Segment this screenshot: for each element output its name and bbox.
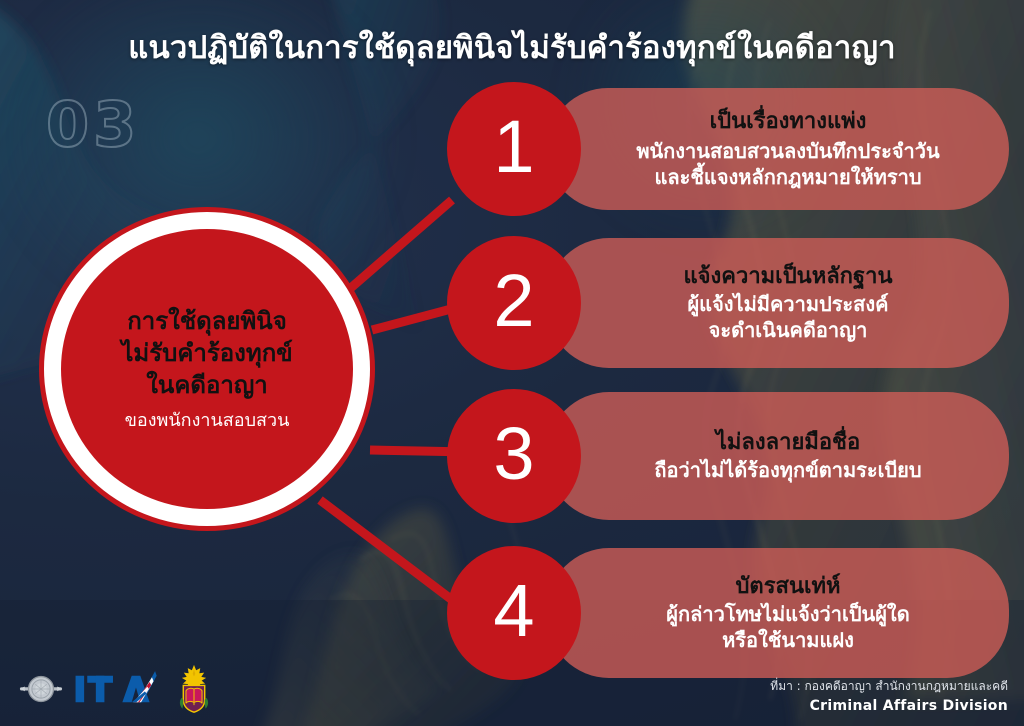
item-number-1: 1 — [493, 110, 534, 184]
item-number-circle-3: 3 — [447, 389, 581, 523]
item-line2-1: และชี้แจงหลักกฎหมายให้ทราบ — [654, 164, 921, 190]
hub-line-2: ไม่รับคำร้องทุกข์ — [121, 338, 292, 370]
item-row-1: เป็นเรื่องทางแพ่ง พนักงานสอบสวนลงบันทึกป… — [447, 88, 1009, 210]
credit-source-en: Criminal Affairs Division — [770, 696, 1008, 716]
item-line1-4: ผู้กล่าวโทษไม่แจ้งว่าเป็นผู้ใด — [666, 601, 909, 627]
item-number-2: 2 — [493, 264, 534, 338]
police-medallion-icon — [18, 666, 64, 712]
item-heading-3: ไม่ลงลายมือชื่อ — [716, 429, 860, 456]
hub-subtitle: ของพนักงานสอบสวน — [125, 409, 290, 432]
royal-police-emblem-icon — [176, 664, 212, 714]
item-pill-2: แจ้งความเป็นหลักฐาน ผู้แจ้งไม่มีความประส… — [547, 238, 1009, 368]
item-number-circle-2: 2 — [447, 236, 581, 370]
item-pill-4: บัตรสนเท่ห์ ผู้กล่าวโทษไม่แจ้งว่าเป็นผู้… — [547, 548, 1009, 678]
credit-source-th: ที่มา : กองคดีอาญา สำนักงานกฎหมายและคดี — [770, 678, 1008, 695]
item-pill-3: ไม่ลงลายมือชื่อ ถือว่าไม่ได้ร้องทุกข์ตาม… — [547, 392, 1009, 520]
item-number-4: 4 — [493, 574, 534, 648]
connector-line-4 — [320, 500, 468, 612]
item-line2-4: หรือใช้นามแฝง — [722, 627, 854, 653]
item-heading-4: บัตรสนเท่ห์ — [735, 573, 840, 600]
item-row-4: บัตรสนเท่ห์ ผู้กล่าวโทษไม่แจ้งว่าเป็นผู้… — [447, 548, 1009, 678]
item-row-2: แจ้งความเป็นหลักฐาน ผู้แจ้งไม่มีความประส… — [447, 238, 1009, 368]
item-number-circle-4: 4 — [447, 546, 581, 680]
item-number-circle-1: 1 — [447, 82, 581, 216]
item-line1-2: ผู้แจ้งไม่มีความประสงค์ — [687, 291, 888, 317]
item-heading-1: เป็นเรื่องทางแพ่ง — [710, 108, 867, 135]
item-heading-2: แจ้งความเป็นหลักฐาน — [683, 263, 892, 290]
hub-circle: การใช้ดุลยพินิจ ไม่รับคำร้องทุกข์ ในคดีอ… — [44, 212, 370, 526]
item-line2-2: จะดำเนินคดีอาญา — [709, 317, 868, 343]
footer-credit: ที่มา : กองคดีอาญา สำนักงานกฎหมายและคดี … — [770, 678, 1008, 716]
item-line1-3: ถือว่าไม่ได้ร้องทุกข์ตามระเบียบ — [654, 457, 921, 483]
item-pill-1: เป็นเรื่องทางแพ่ง พนักงานสอบสวนลงบันทึกป… — [547, 88, 1009, 210]
item-number-3: 3 — [493, 417, 534, 491]
infographic-canvas: แนวปฏิบัติในการใช้ดุลยพินิจไม่รับคำร้องท… — [0, 0, 1024, 726]
logo-group — [18, 660, 212, 718]
item-row-3: ไม่ลงลายมือชื่อ ถือว่าไม่ได้ร้องทุกข์ตาม… — [447, 392, 1009, 520]
page-title: แนวปฏิบัติในการใช้ดุลยพินิจไม่รับคำร้องท… — [0, 22, 1024, 72]
hub-line-1: การใช้ดุลยพินิจ — [127, 306, 287, 338]
ita-logo-icon — [74, 669, 166, 709]
item-line1-1: พนักงานสอบสวนลงบันทึกประจำวัน — [636, 138, 939, 164]
hub-line-3: ในคดีอาญา — [146, 370, 268, 402]
